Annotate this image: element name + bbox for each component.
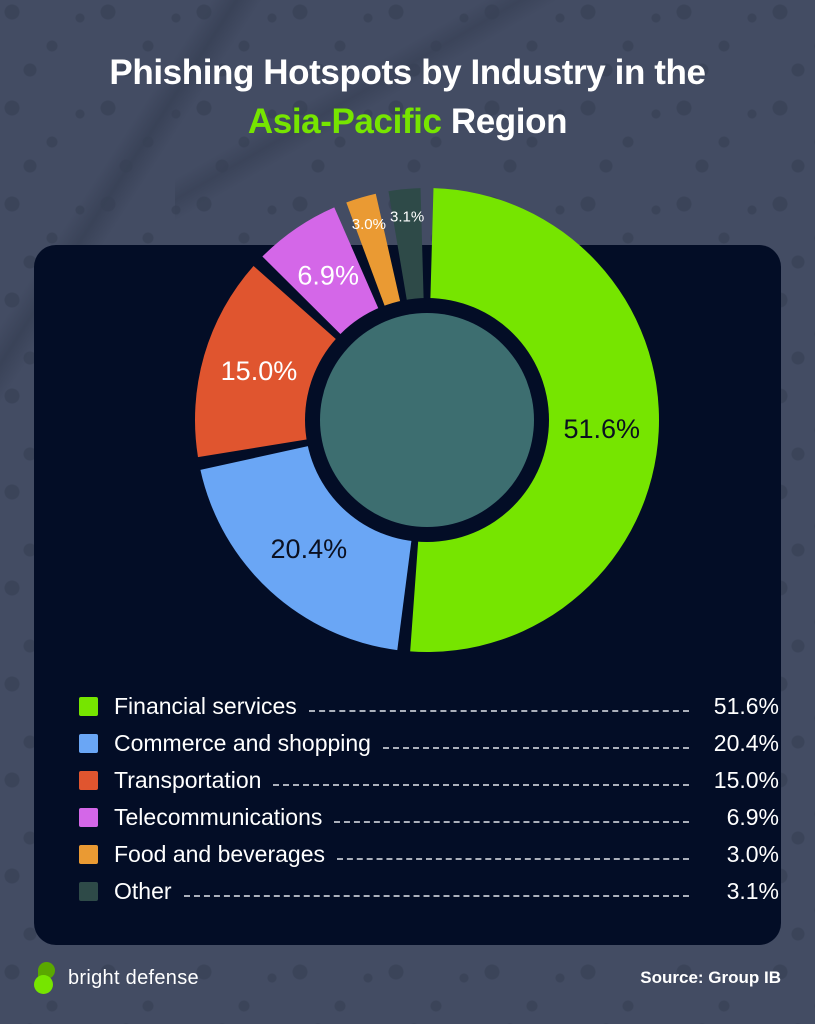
legend-leader-line bbox=[334, 821, 689, 824]
legend-label: Commerce and shopping bbox=[114, 730, 371, 757]
legend-leader-line bbox=[184, 895, 689, 898]
donut-slice-label: 20.4% bbox=[271, 534, 348, 564]
legend-leader-line bbox=[273, 784, 689, 787]
donut-chart-region: 51.6%20.4%15.0%6.9%3.0%3.1% bbox=[34, 170, 781, 690]
legend-swatch-transportation bbox=[79, 771, 98, 790]
legend-value: 3.1% bbox=[701, 878, 779, 905]
chart-card: 51.6%20.4%15.0%6.9%3.0%3.1% Financial se… bbox=[34, 245, 781, 945]
bright-defense-logo-icon bbox=[34, 962, 56, 994]
legend-label: Telecommunications bbox=[114, 804, 322, 831]
legend-leader-line bbox=[383, 747, 689, 750]
legend-value: 6.9% bbox=[701, 804, 779, 831]
source-attribution: Source: Group IB bbox=[640, 968, 781, 988]
legend: Financial services 51.6% Commerce and sh… bbox=[79, 688, 779, 910]
legend-row[interactable]: Transportation 15.0% bbox=[79, 762, 779, 799]
donut-hub bbox=[320, 313, 534, 527]
legend-leader-line bbox=[309, 710, 689, 713]
legend-row[interactable]: Telecommunications 6.9% bbox=[79, 799, 779, 836]
legend-label: Transportation bbox=[114, 767, 261, 794]
legend-row[interactable]: Commerce and shopping 20.4% bbox=[79, 725, 779, 762]
legend-swatch-commerce-and-shopping bbox=[79, 734, 98, 753]
legend-swatch-food-and-beverages bbox=[79, 845, 98, 864]
legend-label: Other bbox=[114, 878, 172, 905]
legend-swatch-telecommunications bbox=[79, 808, 98, 827]
title-accent: Asia-Pacific bbox=[248, 102, 442, 141]
legend-value: 51.6% bbox=[701, 693, 779, 720]
legend-swatch-financial-services bbox=[79, 697, 98, 716]
legend-value: 3.0% bbox=[701, 841, 779, 868]
legend-value: 20.4% bbox=[701, 730, 779, 757]
legend-row[interactable]: Other 3.1% bbox=[79, 873, 779, 910]
brand-name: bright defense bbox=[68, 967, 199, 990]
legend-label: Financial services bbox=[114, 693, 297, 720]
title-line-2-rest: Region bbox=[442, 102, 568, 141]
legend-label: Food and beverages bbox=[114, 841, 325, 868]
donut-slice-label: 6.9% bbox=[297, 261, 359, 291]
legend-row[interactable]: Financial services 51.6% bbox=[79, 688, 779, 725]
legend-value: 15.0% bbox=[701, 767, 779, 794]
donut-slice-label: 3.0% bbox=[352, 216, 386, 233]
donut-slice-label: 51.6% bbox=[563, 414, 640, 444]
legend-swatch-other bbox=[79, 882, 98, 901]
page-title: Phishing Hotspots by Industry in the Asi… bbox=[0, 48, 815, 146]
brand-logo[interactable]: bright defense bbox=[34, 962, 199, 994]
donut-chart: 51.6%20.4%15.0%6.9%3.0%3.1% bbox=[177, 170, 677, 670]
donut-slice-label: 15.0% bbox=[221, 356, 298, 386]
legend-row[interactable]: Food and beverages 3.0% bbox=[79, 836, 779, 873]
legend-leader-line bbox=[337, 858, 689, 861]
title-line-1: Phishing Hotspots by Industry in the bbox=[0, 48, 815, 97]
title-line-2: Asia-Pacific Region bbox=[0, 97, 815, 146]
footer: bright defense Source: Group IB bbox=[0, 956, 815, 1016]
donut-slice-label: 3.1% bbox=[390, 208, 424, 225]
